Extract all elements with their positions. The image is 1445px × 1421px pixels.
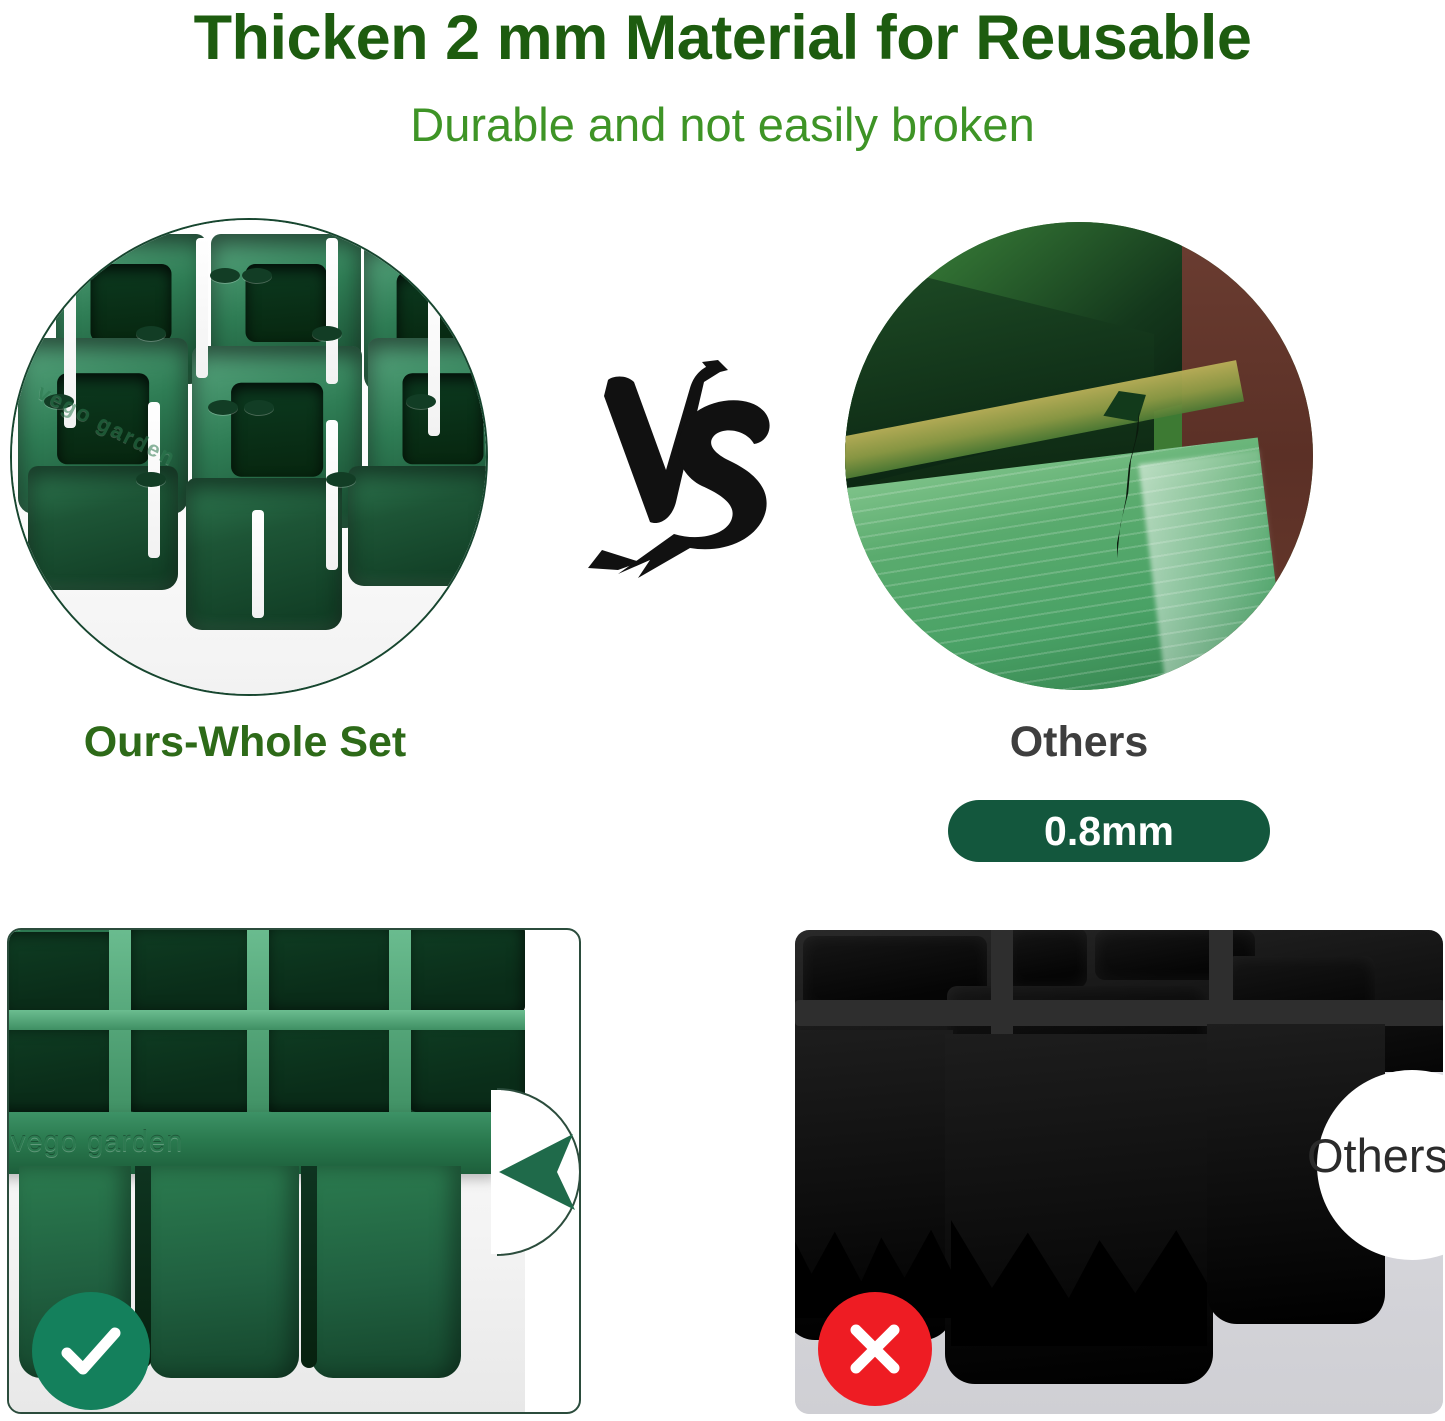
tray-cell: [348, 466, 488, 586]
tray-cell: [9, 932, 119, 1018]
arrow-left-icon: [495, 1126, 581, 1218]
tray-cell: [405, 930, 525, 1014]
cell-cavity: [231, 382, 323, 477]
check-icon: [32, 1292, 150, 1410]
rim-lug: [406, 394, 436, 409]
rim-lug: [210, 268, 240, 283]
drain-slot: [196, 238, 208, 378]
rim-lug: [244, 400, 274, 415]
tray-cell: [265, 1020, 401, 1112]
rim-lug: [136, 326, 166, 341]
others-label-top: Others: [845, 718, 1313, 767]
cell-cavity: [403, 373, 484, 465]
ours-tray-photo: vego garden: [12, 220, 486, 694]
rim-lug: [208, 400, 238, 415]
tray-web: [795, 1000, 1443, 1026]
tray-cell: [9, 1026, 119, 1112]
drain-slot: [428, 268, 440, 436]
others-label-bottom: Others: [1307, 1128, 1445, 1183]
brand-emboss-text: vego garden: [11, 1126, 291, 1162]
cross-icon: [818, 1292, 932, 1406]
page-title: Thicken 2 mm Material for Reusable: [0, 2, 1445, 74]
tray-cell: [127, 930, 257, 1014]
tray-cell: [186, 478, 342, 630]
rim-lug: [326, 472, 356, 487]
drain-slot: [326, 238, 338, 384]
drain-slot: [252, 510, 264, 618]
tray-pot-gap: [301, 1166, 317, 1368]
thickness-badge: 0.8mm: [948, 800, 1270, 862]
tray-cell: [1007, 930, 1087, 988]
others-product-photo-circle: [845, 222, 1313, 690]
page-subtitle: Durable and not easily broken: [0, 96, 1445, 154]
rim-lug: [312, 326, 342, 341]
tray-pot: [311, 1166, 461, 1378]
tray-cell: [265, 930, 397, 1012]
others-cracked-pot-photo: [845, 222, 1313, 690]
rim-lug: [242, 268, 272, 283]
ours-label: Ours-Whole Set: [0, 718, 490, 767]
ours-product-photo-circle: vego garden: [10, 218, 488, 696]
drain-slot: [326, 420, 338, 570]
tray-body: vego garden: [10, 234, 488, 634]
tray-pot: [149, 1166, 299, 1378]
tray-web: [9, 1010, 525, 1030]
vs-icon: [578, 352, 798, 584]
rim-lug: [136, 472, 166, 487]
infographic-canvas: Thicken 2 mm Material for Reusable Durab…: [0, 0, 1445, 1421]
tray-cell: [127, 1022, 257, 1112]
